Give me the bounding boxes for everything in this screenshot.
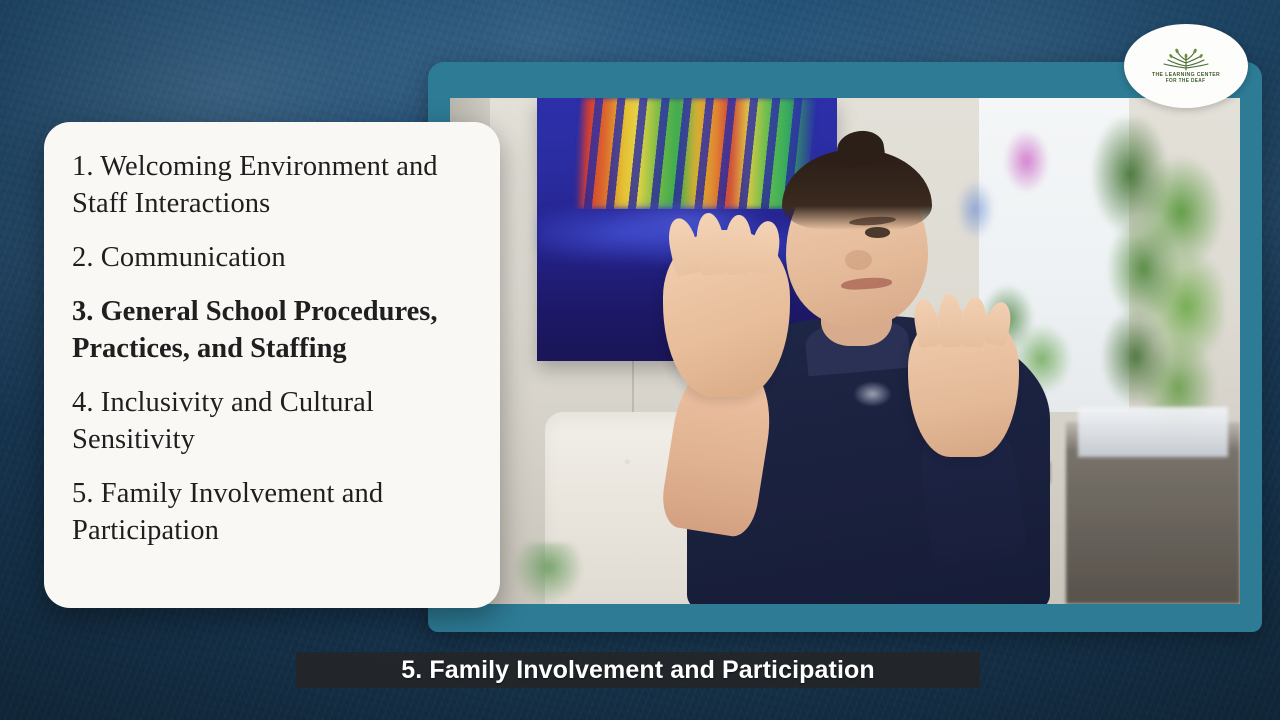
window-blue-accent bbox=[956, 179, 996, 240]
presenter-shirt-logo bbox=[853, 381, 893, 406]
finger bbox=[725, 214, 753, 275]
organization-logo: THE LEARNING CENTER FOR THE DEAF bbox=[1124, 24, 1248, 108]
list-item-5[interactable]: 5. Family Involvement and Participation bbox=[72, 475, 470, 549]
logo-text-line-2: FOR THE DEAF bbox=[1166, 79, 1206, 85]
video-surface[interactable] bbox=[450, 98, 1240, 604]
video-frame[interactable] bbox=[428, 62, 1262, 632]
list-item-4[interactable]: 4. Inclusivity and Cultural Sensitivity bbox=[72, 384, 470, 458]
presenter-eye bbox=[865, 227, 890, 238]
table-items bbox=[1078, 407, 1228, 458]
topics-list-card: 1. Welcoming Environment and Staff Inter… bbox=[44, 122, 500, 608]
presenter-left-hand-signing bbox=[663, 230, 789, 397]
potted-plant-right bbox=[1090, 118, 1224, 432]
list-item-1[interactable]: 1. Welcoming Environment and Staff Inter… bbox=[72, 148, 470, 222]
list-item-3[interactable]: 3. General School Procedures, Practices,… bbox=[72, 293, 470, 367]
floor-plant bbox=[513, 543, 584, 604]
presenter-right-hand-signing bbox=[908, 311, 1019, 458]
window-pink-accent bbox=[1003, 128, 1050, 194]
wheat-sprout-icon bbox=[1155, 47, 1217, 71]
list-item-2[interactable]: 2. Communication bbox=[72, 239, 470, 276]
caption-bar: 5. Family Involvement and Participation bbox=[296, 652, 980, 688]
presenter-nose bbox=[845, 250, 872, 270]
caption-text: 5. Family Involvement and Participation bbox=[401, 656, 874, 685]
